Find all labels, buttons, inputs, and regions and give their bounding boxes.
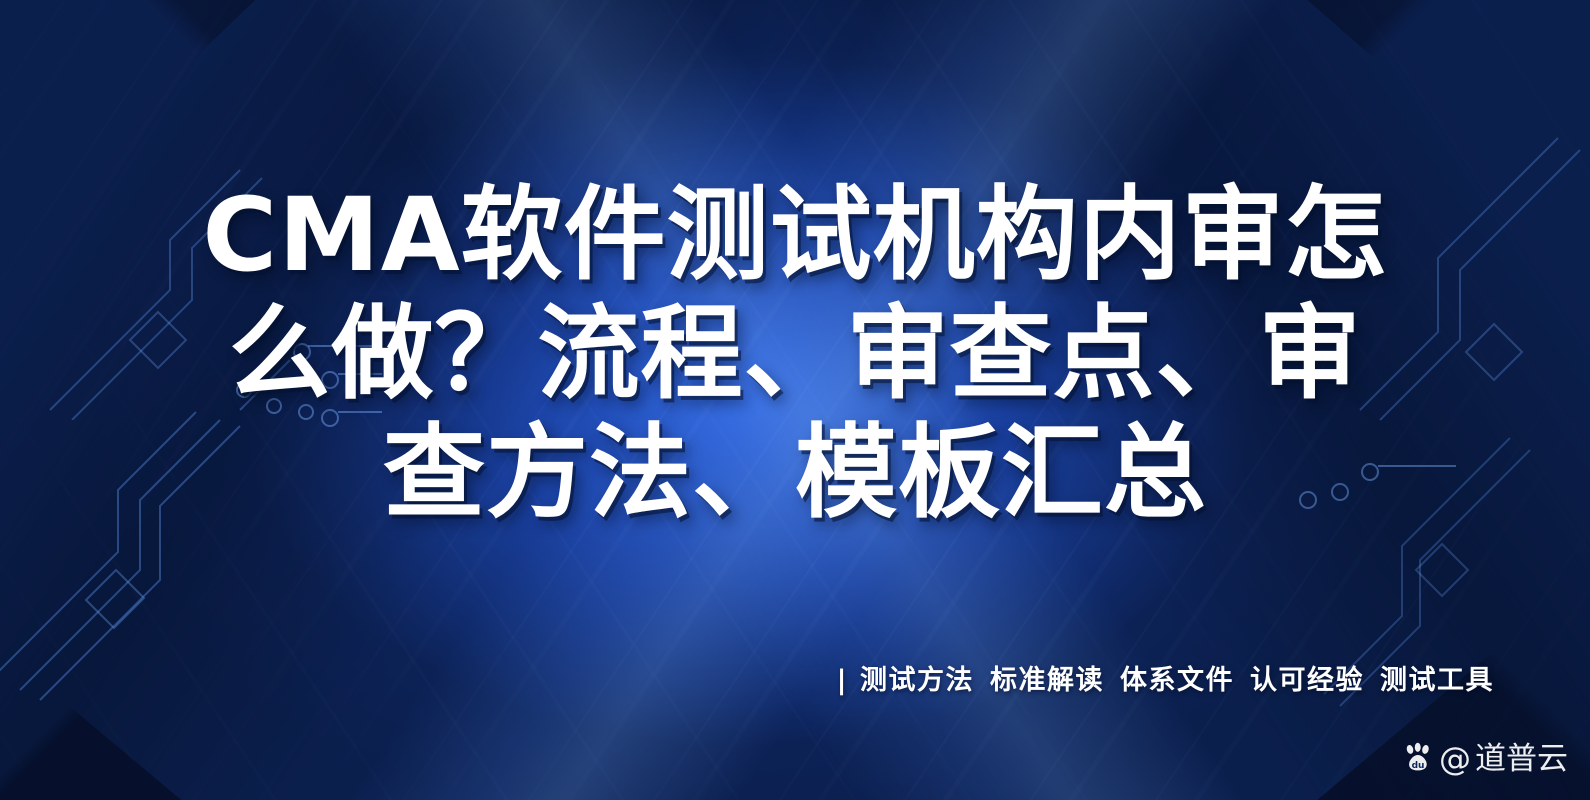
watermark: du @ 道普云 — [1401, 742, 1568, 776]
watermark-account-name: 道普云 — [1475, 742, 1568, 776]
subtitle-tag-strip: |测试方法标准解读体系文件认可经验测试工具 — [0, 664, 1494, 698]
subtitle-tag-2: 体系文件 — [1120, 665, 1234, 696]
poster-canvas: CMA软件测试机构内审怎 么做？流程、审查点、审 查方法、模板汇总 |测试方法标… — [0, 0, 1590, 800]
baidu-paw-icon: du — [1401, 742, 1435, 776]
watermark-at-symbol: @ — [1439, 742, 1471, 776]
subtitle-tag-0: 测试方法 — [860, 665, 974, 696]
baidu-du-text: du — [1412, 761, 1425, 771]
subtitle-tag-1: 标准解读 — [990, 665, 1104, 696]
subtitle-tag-3: 认可经验 — [1250, 665, 1364, 696]
subtitle-separator: | — [837, 665, 848, 696]
subtitle-tag-4: 测试工具 — [1380, 665, 1494, 696]
